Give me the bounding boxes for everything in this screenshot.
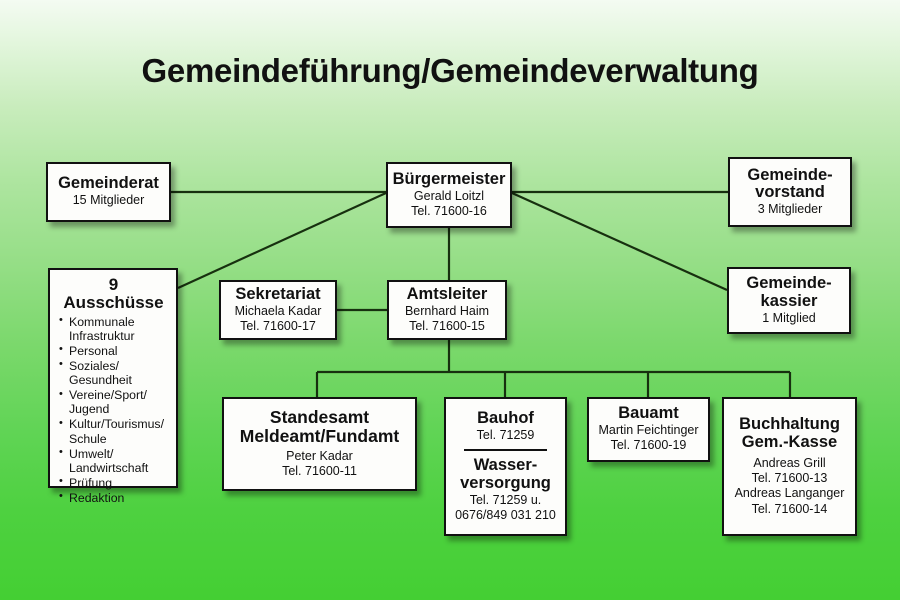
list-item: Redaktion — [59, 491, 168, 505]
list-item: Soziales/ Gesundheit — [59, 359, 168, 388]
node-buchhaltung-line-0: Andreas Grill — [753, 456, 825, 471]
node-gemeindekassier[interactable]: Gemeinde- kassier 1 Mitglied — [727, 267, 851, 334]
list-item: Kommunale Infrastruktur — [59, 315, 168, 344]
wasserversorgung-section: Wasser- versorgung Tel. 71259 u. 0676/84… — [455, 457, 556, 523]
node-gemeinderat[interactable]: Gemeinderat 15 Mitglieder — [46, 162, 171, 222]
node-buchhaltung-heading-line1: Buchhaltung — [739, 416, 840, 434]
node-bauamt[interactable]: Bauamt Martin Feichtinger Tel. 71600-19 — [587, 397, 710, 462]
node-gemeinderat-line-0: 15 Mitglieder — [73, 193, 145, 208]
list-item: Vereine/Sport/ Jugend — [59, 388, 168, 417]
node-bauhof-line-0: Tel. 71259 — [477, 428, 535, 443]
node-gemeindekassier-heading-line1: Gemeinde- — [746, 275, 831, 293]
node-buchhaltung-line-3: Tel. 71600-14 — [752, 502, 828, 517]
ausschuesse-list: Kommunale Infrastruktur Personal Soziale… — [59, 315, 168, 506]
node-buchhaltung-line-1: Tel. 71600-13 — [752, 471, 828, 486]
list-item: Prüfung — [59, 476, 168, 490]
node-sekretariat-line-0: Michaela Kadar — [235, 304, 322, 319]
node-buergermeister[interactable]: Bürgermeister Gerald Loitzl Tel. 71600-1… — [386, 162, 512, 228]
node-wasserversorgung-line-0: Tel. 71259 u. — [470, 493, 542, 508]
list-item: Personal — [59, 344, 168, 358]
node-bauamt-line-0: Martin Feichtinger — [598, 423, 698, 438]
node-bauamt-heading: Bauamt — [618, 405, 679, 423]
node-amtsleiter-heading: Amtsleiter — [407, 286, 488, 304]
node-wasserversorgung-heading-line1: Wasser- — [474, 457, 538, 475]
node-standesamt-heading-line2: Meldeamt/Fundamt — [240, 427, 399, 446]
node-standesamt-line-0: Peter Kadar — [286, 449, 353, 464]
node-gemeindekassier-heading-line2: kassier — [761, 293, 818, 311]
node-buchhaltung-heading-line2: Gem.-Kasse — [742, 434, 837, 452]
node-bauamt-line-1: Tel. 71600-19 — [611, 438, 687, 453]
node-amtsleiter-line-1: Tel. 71600-15 — [409, 319, 485, 334]
org-chart-canvas: Gemeindeführung/Gemeindeverwaltung Gemei… — [0, 0, 900, 600]
node-buchhaltung-line-2: Andreas Langanger — [735, 486, 845, 501]
node-bauhof-heading: Bauhof — [477, 410, 534, 428]
node-sekretariat-heading: Sekretariat — [235, 286, 320, 304]
wire-buergermeister-gemeindekassier — [512, 193, 727, 290]
node-amtsleiter[interactable]: Amtsleiter Bernhard Haim Tel. 71600-15 — [387, 280, 507, 340]
node-bauhof[interactable]: Bauhof Tel. 71259 Wasser- versorgung Tel… — [444, 397, 567, 536]
node-sekretariat[interactable]: Sekretariat Michaela Kadar Tel. 71600-17 — [219, 280, 337, 340]
node-ausschuesse[interactable]: 9 Ausschüsse Kommunale Infrastruktur Per… — [48, 268, 178, 488]
node-gemeinderat-heading: Gemeinderat — [58, 175, 159, 193]
node-standesamt-line-1: Tel. 71600-11 — [282, 464, 357, 479]
list-item: Kultur/Tourismus/ Schule — [59, 417, 168, 446]
bauhof-section: Bauhof Tel. 71259 — [477, 410, 535, 443]
node-gemeindevorstand-line-0: 3 Mitglieder — [758, 202, 823, 217]
node-standesamt[interactable]: Standesamt Meldeamt/Fundamt Peter Kadar … — [222, 397, 417, 491]
node-gemeindevorstand-heading-line1: Gemeinde- — [747, 167, 832, 185]
wire-buergermeister-ausschuesse — [178, 193, 386, 288]
list-item: Umwelt/ Landwirtschaft — [59, 447, 168, 476]
section-divider — [464, 449, 547, 451]
node-amtsleiter-line-0: Bernhard Haim — [405, 304, 489, 319]
node-buchhaltung[interactable]: Buchhaltung Gem.-Kasse Andreas Grill Tel… — [722, 397, 857, 536]
node-buergermeister-line-1: Tel. 71600-16 — [411, 204, 487, 219]
node-wasserversorgung-line-1: 0676/849 031 210 — [455, 508, 556, 523]
node-wasserversorgung-heading-line2: versorgung — [460, 475, 551, 493]
node-gemeindekassier-line-0: 1 Mitglied — [762, 311, 816, 326]
node-sekretariat-line-1: Tel. 71600-17 — [240, 319, 316, 334]
node-ausschuesse-heading: 9 Ausschüsse — [59, 276, 168, 313]
node-standesamt-heading-line1: Standesamt — [270, 408, 369, 427]
node-gemeindevorstand[interactable]: Gemeinde- vorstand 3 Mitglieder — [728, 157, 852, 227]
node-gemeindevorstand-heading-line2: vorstand — [755, 184, 825, 202]
node-buergermeister-heading: Bürgermeister — [393, 171, 506, 189]
node-buergermeister-line-0: Gerald Loitzl — [414, 189, 484, 204]
page-title: Gemeindeführung/Gemeindeverwaltung — [0, 52, 900, 90]
